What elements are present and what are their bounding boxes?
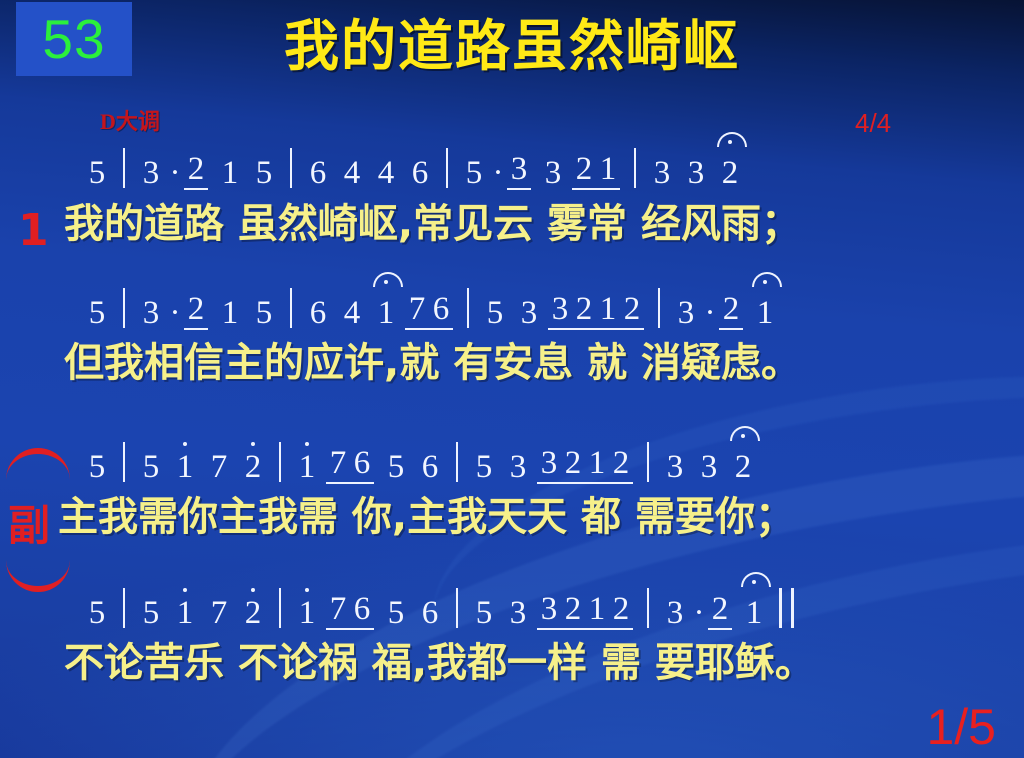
note: 2 <box>719 293 743 326</box>
note: 3 <box>669 297 703 330</box>
beamed-note-group: 3212 <box>537 447 633 484</box>
note: 4 <box>369 157 403 190</box>
note: 2 <box>184 153 208 186</box>
barline-icon <box>658 288 660 328</box>
note: 3 <box>134 157 168 190</box>
lyrics-line-1: 我的道路 虽然崎岖,常见云 雾常 经风雨； <box>0 204 1024 244</box>
beamed-note-group: 3212 <box>548 293 644 330</box>
note: 6 <box>403 157 437 190</box>
note-with-fermata: 1 <box>748 297 782 330</box>
note: 2 <box>236 597 270 630</box>
page-title: 我的道路虽然崎岖 <box>0 18 1024 76</box>
note: 2 <box>236 451 270 484</box>
note: 5 <box>457 157 491 190</box>
note: 2 <box>708 593 732 626</box>
beamed-note-group: 2 <box>184 153 208 190</box>
music-line-4: 55172176565332123·21 <box>0 588 1024 630</box>
note-with-fermata: 2 <box>713 157 747 190</box>
note: 6 <box>301 297 335 330</box>
note: 3 <box>512 297 546 330</box>
barline-icon <box>279 442 281 482</box>
note: 1 <box>596 153 620 186</box>
note: 1 <box>290 451 324 484</box>
note: 5 <box>80 451 114 484</box>
augmentation-dot: · <box>692 597 706 630</box>
note: 1 <box>290 597 324 630</box>
barline-icon <box>647 588 649 628</box>
note: 2 <box>572 153 596 186</box>
note: 4 <box>335 297 369 330</box>
note: 7 <box>405 293 429 326</box>
beamed-note-group: 76 <box>405 293 453 330</box>
note: 5 <box>247 297 281 330</box>
note: 2 <box>561 593 585 626</box>
lyrics-text-1: 我的道路 虽然崎岖,常见云 雾常 经风雨； <box>0 204 1024 244</box>
note: 1 <box>213 297 247 330</box>
note: 2 <box>609 447 633 480</box>
note: 3 <box>658 597 692 630</box>
note: 6 <box>350 593 374 626</box>
note: 2 <box>609 593 633 626</box>
beamed-note-group: 2 <box>719 293 743 330</box>
augmentation-dot: · <box>491 157 505 190</box>
note: 3 <box>507 153 531 186</box>
note: 5 <box>80 597 114 630</box>
lyrics-text-2: 但我相信主的应许,就 有安息 就 消疑虑。 <box>0 343 1024 383</box>
note: 1 <box>596 293 620 326</box>
barline-icon <box>456 442 458 482</box>
music-line-3: 5517217656533212332 <box>0 442 1024 484</box>
barline-icon <box>446 148 448 188</box>
time-signature-label: 4/4 <box>855 108 891 139</box>
beamed-note-group: 21 <box>572 153 620 190</box>
beamed-note-group: 76 <box>326 593 374 630</box>
augmentation-dot: · <box>168 297 182 330</box>
barline-icon <box>647 442 649 482</box>
note: 3 <box>134 297 168 330</box>
note: 3 <box>537 447 561 480</box>
note: 6 <box>301 157 335 190</box>
note: 1 <box>168 597 202 630</box>
beamed-note-group: 3212 <box>537 593 633 630</box>
note: 6 <box>350 447 374 480</box>
note: 3 <box>548 293 572 326</box>
note: 2 <box>620 293 644 326</box>
barline-icon <box>290 148 292 188</box>
beamed-note-group: 2 <box>184 293 208 330</box>
key-signature-label: D大调 <box>100 104 160 136</box>
music-line-1: 53·21564465·3321332 <box>0 148 1024 190</box>
lyrics-text-3: 主我需你主我需 你,主我天天 都 需要你； <box>0 497 1024 537</box>
barline-icon <box>123 288 125 328</box>
lyrics-text-4: 不论苦乐 不论祸 福,我都一样 需 要耶稣。 <box>0 643 1024 683</box>
note: 5 <box>247 157 281 190</box>
music-line-2: 53·215641765332123·21 <box>0 288 1024 330</box>
chorus-bracket-bottom-icon <box>6 556 70 592</box>
beamed-note-group: 76 <box>326 447 374 484</box>
barline-icon <box>456 588 458 628</box>
note: 3 <box>501 451 535 484</box>
notation-row-1: 53·21564465·3321332 <box>0 148 1024 190</box>
note: 3 <box>501 597 535 630</box>
beamed-note-group: 3 <box>507 153 531 190</box>
note: 5 <box>80 297 114 330</box>
note: 1 <box>213 157 247 190</box>
note: 3 <box>658 451 692 484</box>
barline-icon <box>123 442 125 482</box>
note: 5 <box>478 297 512 330</box>
note: 6 <box>413 451 447 484</box>
note: 1 <box>585 447 609 480</box>
notation-row-4: 55172176565332123·21 <box>0 588 1024 630</box>
barline-icon <box>123 588 125 628</box>
note: 5 <box>379 451 413 484</box>
note: 2 <box>184 293 208 326</box>
note: 3 <box>536 157 570 190</box>
final-barline-icon <box>779 588 794 628</box>
note: 7 <box>202 597 236 630</box>
lyrics-line-4: 不论苦乐 不论祸 福,我都一样 需 要耶稣。 <box>0 643 1024 683</box>
note: 2 <box>572 293 596 326</box>
note: 6 <box>413 597 447 630</box>
note: 5 <box>467 451 501 484</box>
note: 1 <box>585 593 609 626</box>
note: 3 <box>645 157 679 190</box>
lyrics-line-3: 主我需你主我需 你,主我天天 都 需要你； <box>0 497 1024 537</box>
barline-icon <box>290 288 292 328</box>
barline-icon <box>467 288 469 328</box>
decorative-swoosh-1 <box>135 356 1024 758</box>
note: 7 <box>326 593 350 626</box>
note: 6 <box>429 293 453 326</box>
note: 2 <box>561 447 585 480</box>
note: 3 <box>679 157 713 190</box>
note: 3 <box>537 593 561 626</box>
barline-icon <box>123 148 125 188</box>
note: 4 <box>335 157 369 190</box>
note-with-fermata: 1 <box>737 597 771 630</box>
note-with-fermata: 1 <box>369 297 403 330</box>
note: 5 <box>80 157 114 190</box>
decorative-swoosh-3 <box>412 327 1024 758</box>
note: 7 <box>202 451 236 484</box>
lyrics-line-2: 但我相信主的应许,就 有安息 就 消疑虑。 <box>0 343 1024 383</box>
note-with-fermata: 2 <box>726 451 760 484</box>
barline-icon <box>279 588 281 628</box>
augmentation-dot: · <box>168 157 182 190</box>
notation-row-2: 53·215641765332123·21 <box>0 288 1024 330</box>
notation-row-3: 5517217656533212332 <box>0 442 1024 484</box>
note: 5 <box>134 597 168 630</box>
note: 5 <box>134 451 168 484</box>
note: 7 <box>326 447 350 480</box>
slide-canvas: 53 我的道路虽然崎岖 D大调 4/4 1 副 53·21564465·3321… <box>0 0 1024 758</box>
page-indicator: 1/5 <box>926 698 996 756</box>
note: 1 <box>168 451 202 484</box>
note: 5 <box>379 597 413 630</box>
note: 3 <box>692 451 726 484</box>
barline-icon <box>634 148 636 188</box>
augmentation-dot: · <box>703 297 717 330</box>
note: 5 <box>467 597 501 630</box>
beamed-note-group: 2 <box>708 593 732 630</box>
